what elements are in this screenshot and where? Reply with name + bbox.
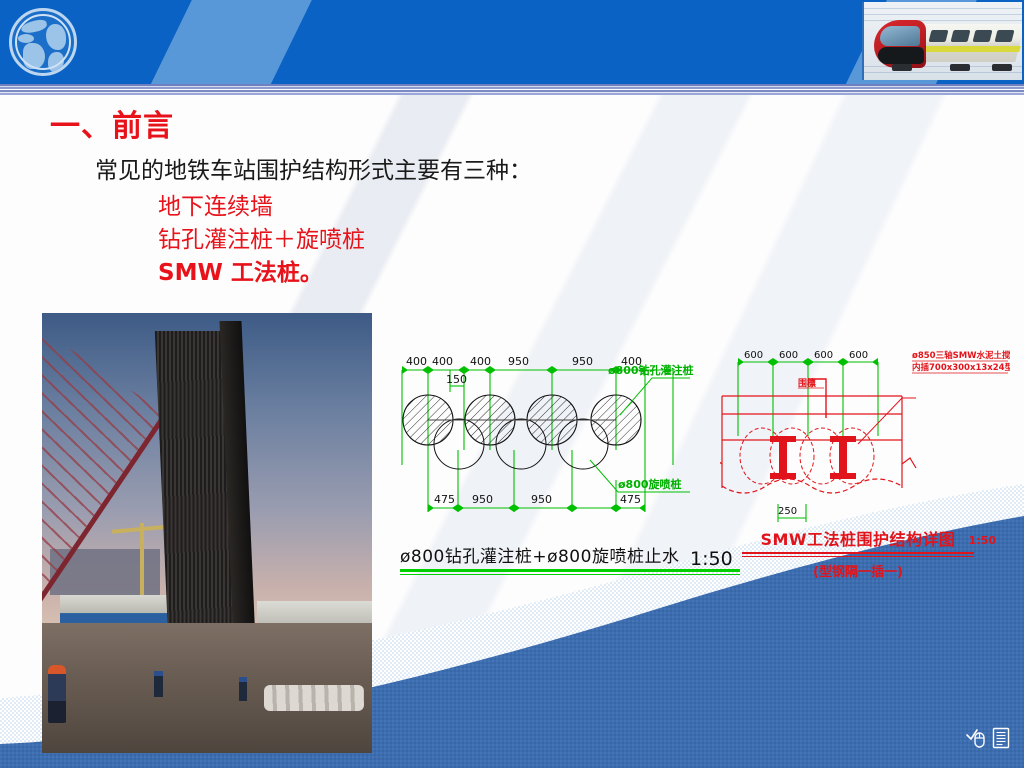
header-stripe-rule xyxy=(0,84,1024,95)
dim-bot-2: 950 xyxy=(472,493,493,506)
globe-logo-icon xyxy=(9,8,77,76)
right-drawing-caption: SMW工法桩围护结构详图 1:50 (型钢隔一插一) xyxy=(728,526,988,580)
smw-dim-3: 600 xyxy=(814,350,833,361)
bored-pile-section-drawing: 400 400 400 950 950 400 150 475 950 950 … xyxy=(390,330,700,545)
structure-type-list: 地下连续墙 钻孔灌注桩＋旋喷桩 SMW 工法桩。 xyxy=(158,191,532,289)
label-bored-pile: ø800钻孔灌注桩 xyxy=(608,363,694,377)
dim-top-4: 950 xyxy=(508,355,529,368)
dim-bot-4: 475 xyxy=(620,493,641,506)
slide-corner-controls[interactable] xyxy=(965,727,1010,754)
metro-train-photo xyxy=(862,2,1022,80)
dim-bot-1: 475 xyxy=(434,493,455,506)
presentation-slide: 一、前言 常见的地铁车站围护结构形式主要有三种： 地下连续墙 钻孔灌注桩＋旋喷桩… xyxy=(0,0,1024,768)
dim-top-3: 400 xyxy=(470,355,491,368)
left-caption-text: ø800钻孔灌注桩+ø800旋喷桩止水 xyxy=(400,542,740,567)
left-drawing-caption: ø800钻孔灌注桩+ø800旋喷桩止水 1:50 xyxy=(400,542,740,575)
lead-paragraph: 常见的地铁车站围护结构形式主要有三种： xyxy=(95,156,532,186)
dim-top-5: 950 xyxy=(572,355,593,368)
dim-top-2: 400 xyxy=(432,355,453,368)
mouse-click-icon[interactable] xyxy=(965,727,987,754)
smw-dim-2: 600 xyxy=(779,350,798,361)
smw-pile-section-drawing: 600 600 600 600 250 围檩 ø850三轴SMW水泥土搅拌桩 内… xyxy=(720,336,1010,536)
page-title: 一、前言 xyxy=(50,101,174,145)
dim-bot-3: 950 xyxy=(531,493,552,506)
right-caption-subtitle: (型钢隔一插一) xyxy=(728,561,988,580)
list-item: 地下连续墙 xyxy=(158,191,532,224)
dim-top-1: 400 xyxy=(406,355,427,368)
right-caption-title: SMW工法桩围护结构详图 xyxy=(760,526,955,550)
list-item: 钻孔灌注桩＋旋喷桩 xyxy=(158,224,532,257)
construction-site-photo xyxy=(42,313,372,753)
dim-inner: 150 xyxy=(446,373,467,386)
smw-dim-4: 600 xyxy=(849,350,868,361)
smw-dim-1: 600 xyxy=(744,350,763,361)
smw-dim-bottom: 250 xyxy=(778,506,797,517)
slide-body-text: 常见的地铁车站围护结构形式主要有三种： 地下连续墙 钻孔灌注桩＋旋喷桩 SMW … xyxy=(95,156,532,289)
smw-note-1: ø850三轴SMW水泥土搅拌桩 xyxy=(912,350,1010,361)
cad-drawings-group: 400 400 400 950 950 400 150 475 950 950 … xyxy=(390,330,1015,595)
header-wave-dark-2 xyxy=(239,0,952,84)
document-icon[interactable] xyxy=(992,727,1010,754)
label-waler: 围檩 xyxy=(798,377,816,389)
left-drawing-scale: 1:50 xyxy=(690,548,733,570)
right-drawing-scale: 1:50 xyxy=(969,534,996,547)
list-item: SMW 工法桩。 xyxy=(158,257,532,290)
smw-note-2: 内插700x300x13x24型钢 xyxy=(912,362,1010,373)
label-jet-pile: ø800旋喷桩 xyxy=(618,477,682,491)
